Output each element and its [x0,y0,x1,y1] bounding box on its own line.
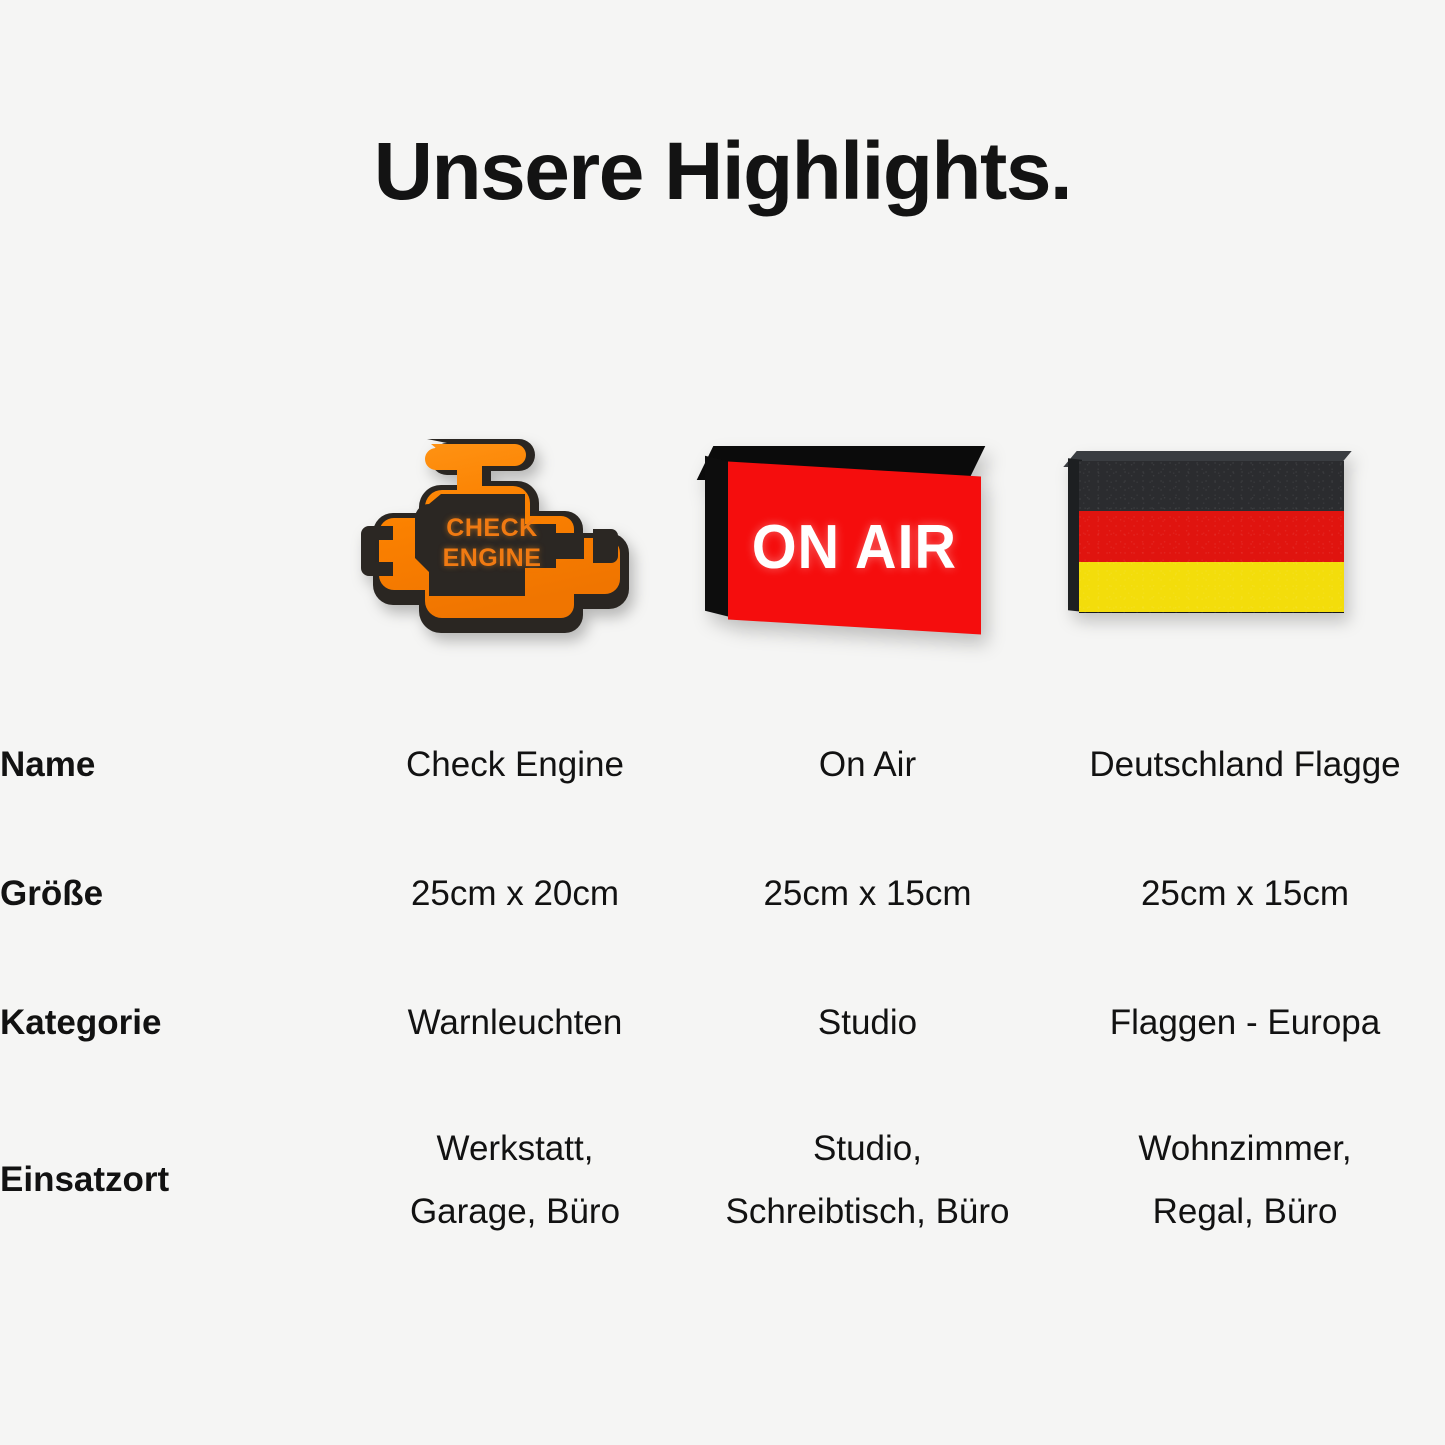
cell-einsatzort-on-air: Studio, Schreibtisch, Büro [690,1087,1045,1272]
cell-name-on-air: On Air [690,700,1045,829]
row-label-name: Name [0,700,340,829]
cell-groesse-on-air: 25cm x 15cm [690,829,1045,958]
table-row-name: Name Check Engine On Air Deutschland Fla… [0,700,1445,829]
page-title: Unsere Highlights. [0,131,1445,213]
cell-einsatzort-on-air-line1: Studio, [690,1117,1045,1180]
cell-groesse-check-engine: 25cm x 20cm [340,829,690,958]
product-image-on-air[interactable]: ON AIR [665,410,1015,670]
flag-box-front-face [1079,461,1344,613]
product-image-row: CHECK ENGINE ON AIR [0,410,1445,670]
row-label-einsatzort: Einsatzort [0,1087,340,1272]
check-engine-lamp-icon: CHECK ENGINE [335,433,645,648]
on-air-lightbox-icon: ON AIR [683,433,998,648]
table-row-einsatzort: Einsatzort Werkstatt, Garage, Büro Studi… [0,1087,1445,1272]
on-air-face-inner: ON AIR [751,516,956,578]
on-air-box-front-face: ON AIR [728,461,981,634]
cell-einsatzort-deutschland-flagge-line2: Regal, Büro [1045,1180,1445,1243]
cell-name-check-engine: Check Engine [340,700,690,829]
cell-einsatzort-on-air-line2: Schreibtisch, Büro [690,1180,1045,1243]
germany-flag-lightbox-icon [1052,433,1362,648]
row-label-kategorie: Kategorie [0,958,340,1087]
table-row-groesse: Größe 25cm x 20cm 25cm x 15cm 25cm x 15c… [0,829,1445,958]
check-engine-shape-svg [335,433,645,648]
highlights-page: Unsere Highlights. [0,0,1445,1445]
specs-table: Name Check Engine On Air Deutschland Fla… [0,700,1445,1272]
cell-einsatzort-deutschland-flagge-line1: Wohnzimmer, [1045,1117,1445,1180]
row-label-groesse: Größe [0,829,340,958]
cell-einsatzort-check-engine-line2: Garage, Büro [340,1180,690,1243]
flag-band-black [1079,461,1344,512]
cell-kategorie-deutschland-flagge: Flaggen - Europa [1045,958,1445,1087]
flag-band-red [1079,511,1344,562]
cell-kategorie-check-engine: Warnleuchten [340,958,690,1087]
on-air-label-text: ON AIR [751,516,956,578]
cell-groesse-deutschland-flagge: 25cm x 15cm [1045,829,1445,958]
product-image-deutschland-flagge[interactable] [1022,410,1392,670]
cell-einsatzort-deutschland-flagge: Wohnzimmer, Regal, Büro [1045,1087,1445,1272]
cell-einsatzort-check-engine-line1: Werkstatt, [340,1117,690,1180]
cell-name-deutschland-flagge: Deutschland Flagge [1045,700,1445,829]
cell-kategorie-on-air: Studio [690,958,1045,1087]
flag-band-gold [1079,562,1344,613]
cell-einsatzort-check-engine: Werkstatt, Garage, Büro [340,1087,690,1272]
table-row-kategorie: Kategorie Warnleuchten Studio Flaggen - … [0,958,1445,1087]
product-image-check-engine[interactable]: CHECK ENGINE [310,410,670,670]
